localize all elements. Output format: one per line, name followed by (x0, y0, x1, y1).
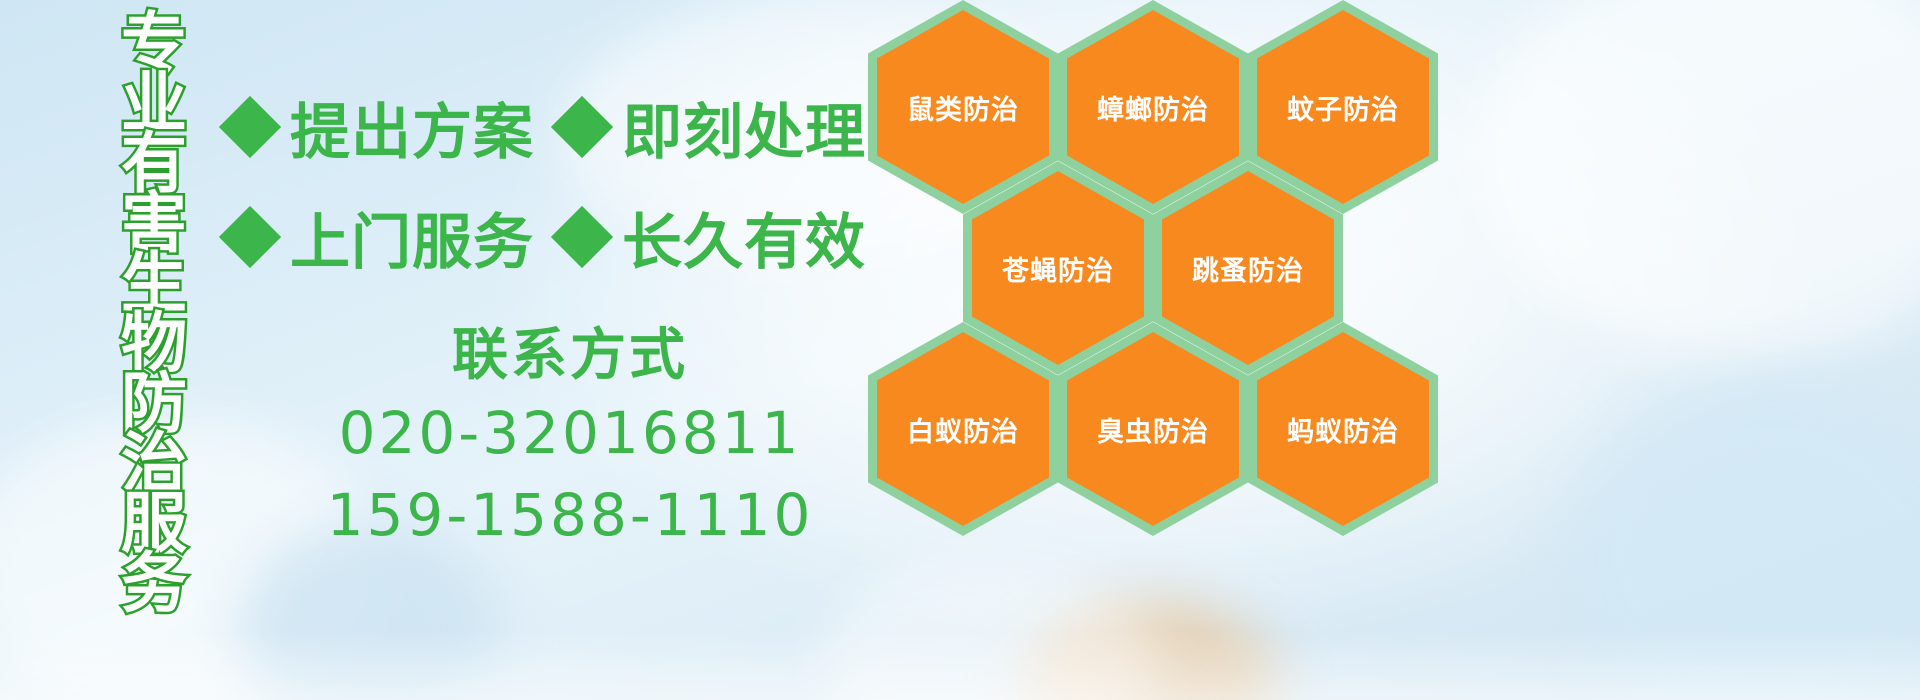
hex-inner: 跳蚤防治 (1162, 171, 1334, 365)
feature-item-immediate-treatment: 即刻处理 (560, 84, 866, 171)
feature-item-propose-plan: 提出方案 (228, 84, 534, 171)
service-label: 跳蚤防治 (1192, 249, 1304, 288)
background-blur-blob (1480, 0, 1920, 360)
feature-label: 长久有效 (622, 194, 866, 281)
feature-row: 上门服务 长久有效 (228, 182, 868, 292)
feature-label: 提出方案 (290, 84, 534, 171)
hex-inner: 蟑螂防治 (1067, 10, 1239, 204)
pest-control-banner: 专 业 有 害 生 物 防 治 服 务 提出方案 即刻处理 上门服务 (0, 0, 1920, 700)
feature-row: 提出方案 即刻处理 (228, 72, 868, 182)
hex-inner: 白蚁防治 (877, 332, 1049, 526)
feature-label: 即刻处理 (622, 84, 866, 171)
service-hexagon-grid: 鼠类防治 蟑螂防治 蚊子防治 苍蝇防治 跳蚤防治 白蚁防治 (862, 0, 1462, 700)
service-label: 蚊子防治 (1287, 88, 1399, 127)
feature-item-long-lasting: 长久有效 (560, 194, 866, 281)
hex-inner: 苍蝇防治 (972, 171, 1144, 365)
diamond-icon (219, 96, 281, 158)
diamond-icon (551, 96, 613, 158)
diamond-icon (219, 206, 281, 268)
service-label: 蚂蚁防治 (1287, 410, 1399, 449)
feature-list: 提出方案 即刻处理 上门服务 长久有效 (228, 72, 868, 292)
service-label: 臭虫防治 (1097, 410, 1209, 449)
feature-item-onsite-service: 上门服务 (228, 194, 534, 281)
phone-number-landline[interactable]: 020-32016811 (250, 392, 890, 474)
vertical-title-char: 务 (121, 554, 187, 614)
feature-label: 上门服务 (290, 194, 534, 281)
hex-inner: 臭虫防治 (1067, 332, 1239, 526)
hex-inner: 蚂蚁防治 (1257, 332, 1429, 526)
service-label: 蟑螂防治 (1097, 88, 1209, 127)
phone-number-mobile[interactable]: 159-1588-1110 (250, 474, 890, 556)
hex-inner: 蚊子防治 (1257, 10, 1429, 204)
contact-block: 联系方式 020-32016811 159-1588-1110 (250, 320, 890, 556)
diamond-icon (551, 206, 613, 268)
service-label: 白蚁防治 (907, 410, 1019, 449)
service-label: 鼠类防治 (907, 88, 1019, 127)
service-label: 苍蝇防治 (1002, 249, 1114, 288)
vertical-title: 专 业 有 害 生 物 防 治 服 务 (106, 14, 202, 614)
contact-title: 联系方式 (250, 320, 890, 392)
hex-inner: 鼠类防治 (877, 10, 1049, 204)
